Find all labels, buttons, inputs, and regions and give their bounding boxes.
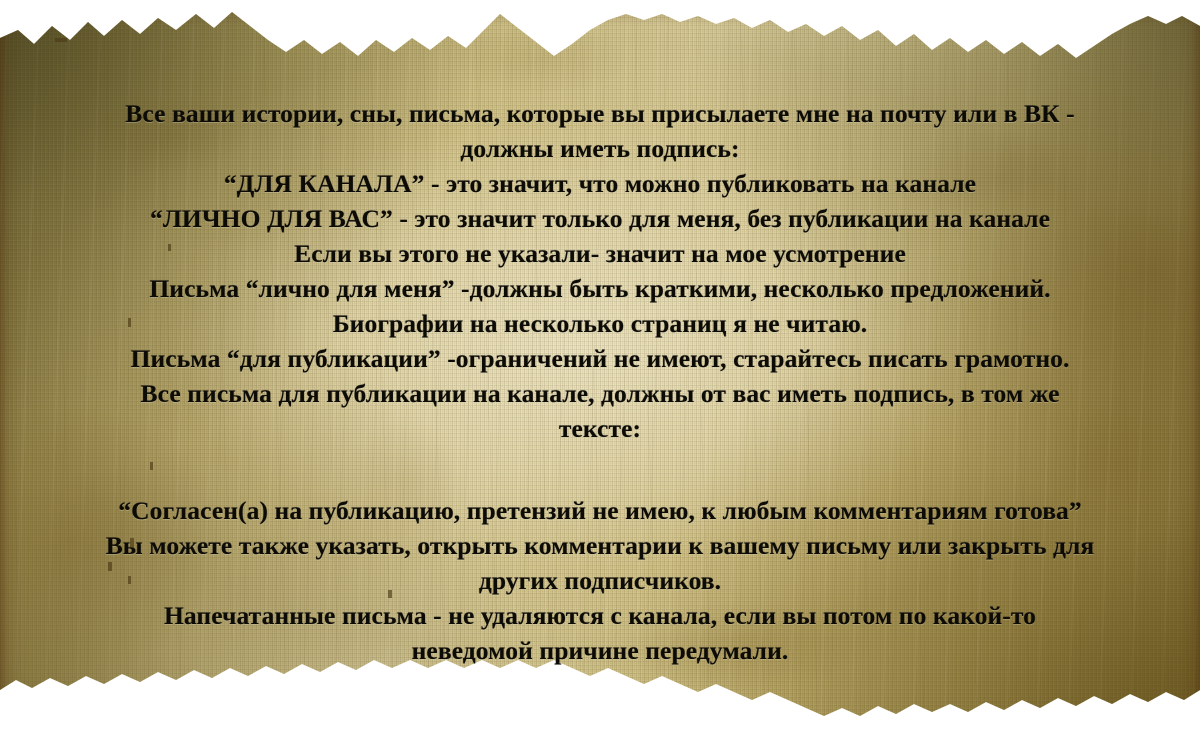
notice-block-two: “Согласен(а) на публикацию, претензий не…: [20, 493, 1180, 668]
notice-line: Напечатанные письма - не удаляются с кан…: [20, 598, 1180, 633]
notice-line: “ЛИЧНО ДЛЯ ВАС” - это значит только для …: [20, 201, 1180, 236]
notice-line: Все ваши истории, сны, письма, которые в…: [20, 96, 1180, 131]
notice-line: Письма “лично для меня” -должны быть кра…: [20, 271, 1180, 306]
notice-line: Письма “для публикации” -ограничений не …: [20, 341, 1180, 376]
notice-line: тексте:: [20, 411, 1180, 446]
notice-line: должны иметь подпись:: [20, 131, 1180, 166]
notice-line: неведомой причине передумали.: [20, 633, 1180, 668]
notice-line: других подписчиков.: [20, 563, 1180, 598]
notice-line: Если вы этого не указали- значит на мое …: [20, 236, 1180, 271]
notice-line: Биографии на несколько страниц я не чита…: [20, 306, 1180, 341]
notice-line: Все письма для публикации на канале, дол…: [20, 376, 1180, 411]
notice-line: Вы можете также указать, открыть коммент…: [20, 528, 1180, 563]
notice-line: “Согласен(а) на публикацию, претензий не…: [20, 493, 1180, 528]
notice-line: “ДЛЯ КАНАЛА” - это значит, что можно пуб…: [20, 166, 1180, 201]
notice-text-layer: Все ваши истории, сны, письма, которые в…: [0, 0, 1200, 750]
screenshot-canvas: Все ваши истории, сны, письма, которые в…: [0, 0, 1200, 750]
notice-block-one: Все ваши истории, сны, письма, которые в…: [20, 96, 1180, 446]
